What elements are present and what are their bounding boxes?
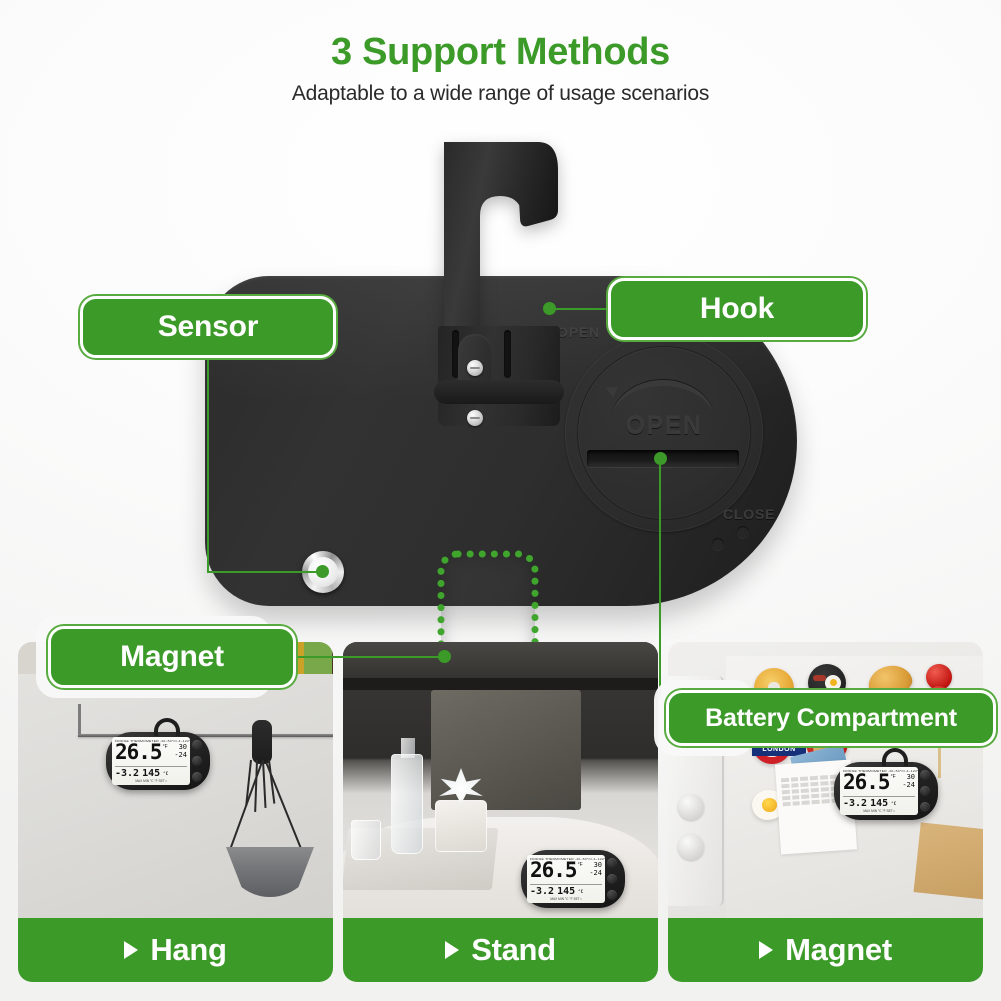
play-triangle-icon [759,941,773,959]
lcd-secondary-row: -3.2 145 °C [530,884,602,897]
button-mode[interactable] [607,874,617,884]
drinking-glass [351,820,381,860]
thermometer-device: FRIDGE THERMOMETER -20~50°C/-4~122°F 26.… [106,732,210,790]
leader-dot-sensor [316,565,329,578]
thermometer-hanging: FRIDGE THERMOMETER -20~50°C/-4~122°F 26.… [106,732,210,790]
lcd-footer-strip: MAX MIN °C °F SET • [530,897,602,901]
leader-dot-hook [543,302,556,315]
pan-egg [825,675,841,691]
button-set[interactable] [192,772,202,782]
play-triangle-icon [124,941,138,959]
lcd-unit-f: °F [578,862,583,868]
device-buttons[interactable] [918,767,932,815]
lcd-max-value: 30 [907,773,915,781]
lcd-secondary-value: 145 [557,886,575,897]
lcd-header-strip: FRIDGE THERMOMETER -20~50°C/-4~122°F [530,857,602,861]
scenario-label-hang[interactable]: Hang [18,918,333,982]
close-marker-text: CLOSE [723,506,775,522]
lcd-min-value: -24 [902,781,915,789]
scenario-label-magnet[interactable]: Magnet [668,918,983,982]
lcd-header-strip: FRIDGE THERMOMETER -20~50°C/-4~122°F [115,739,187,743]
callout-sensor[interactable]: Sensor [80,296,336,358]
lcd-main-row: 26.5 °F 30 -24 [115,743,187,766]
hanging-hook [432,138,572,428]
lcd-min-value: -24 [174,751,187,759]
cap-dot-close [737,526,749,538]
lcd-temperature: 26.5 [115,743,162,763]
product-diagram: OPEN OPEN CLOSE [0,128,1001,640]
lcd-secondary-unit: °C [163,771,168,776]
callout-magnet-label: Magnet [120,640,224,674]
screw-lower-icon [467,410,483,426]
thermometer-device: FRIDGE THERMOMETER -20~50°C/-4~122°F 26.… [521,850,625,908]
scenario-photo-stand: FRIDGE THERMOMETER -20~50°C/-4~122°F 26.… [343,642,658,918]
button-mode[interactable] [920,786,930,796]
lcd-secondary-row: -3.2 145 °C [843,796,915,809]
lcd-footer-strip: MAX MIN °C °F SET • [115,779,187,783]
lcd-screen: FRIDGE THERMOMETER -20~50°C/-4~122°F 26.… [527,855,605,903]
rail-bracket [78,704,81,736]
lcd-minmax: 30 -24 [589,861,602,877]
lcd-secondary-value: 145 [142,768,160,779]
lcd-temperature: 26.5 [530,861,577,881]
lcd-secondary-row: -3.2 145 °C [115,766,187,779]
lcd-minmax: 30 -24 [174,743,187,759]
button-set[interactable] [920,802,930,812]
callout-hook[interactable]: Hook [608,278,866,340]
lcd-timer-value: -3.2 [115,768,139,779]
cabinet-shelf-edge [343,678,658,690]
lcd-timer-value: -3.2 [843,798,867,809]
pan-bacon [813,675,826,680]
leader-line-sensor-horizontal [207,571,323,573]
lcd-main-row: 26.5 °F 30 -24 [530,861,602,884]
leader-line-magnet [292,656,448,658]
lcd-screen: FRIDGE THERMOMETER -20~50°C/-4~122°F 26.… [112,737,190,785]
lcd-min-value: -24 [589,869,602,877]
device-buttons[interactable] [605,855,619,903]
callout-magnet[interactable]: Magnet [48,626,296,688]
lcd-max-value: 30 [594,861,602,869]
scenario-label-magnet-text: Magnet [785,932,892,968]
callout-sensor-label: Sensor [158,310,259,344]
leader-line-battery [659,458,661,698]
page-subtitle: Adaptable to a wide range of usage scena… [0,79,1001,109]
lcd-secondary-unit: °C [578,889,583,894]
header: 3 Support Methods Adaptable to a wide ra… [0,28,1001,109]
lcd-unit-f: °F [891,774,896,780]
scenario-card-stand[interactable]: FRIDGE THERMOMETER -20~50°C/-4~122°F 26.… [343,642,658,982]
glass-bottle [391,754,423,854]
lcd-unit-f: °F [163,744,168,750]
screw-upper-icon [467,360,483,376]
button-power[interactable] [607,858,617,868]
hook-lower-tab [434,380,564,404]
callout-battery-compartment[interactable]: Battery Compartment [666,690,996,746]
callout-hook-label: Hook [700,292,774,326]
lcd-footer-strip: MAX MIN °C °F SET • [843,809,915,813]
infographic-stage: 3 Support Methods Adaptable to a wide ra… [0,0,1001,1001]
lcd-header-strip: FRIDGE THERMOMETER -20~50°C/-4~122°F [843,769,915,773]
battery-cap-open-text: OPEN [565,412,763,441]
callout-battery-label: Battery Compartment [705,704,957,733]
button-power[interactable] [920,770,930,780]
button-set[interactable] [607,890,617,900]
thermometer-magnet-mounted: FRIDGE THERMOMETER -20~50°C/-4~122°F 26.… [834,762,938,820]
lcd-screen: FRIDGE THERMOMETER -20~50°C/-4~122°F 26.… [840,767,918,815]
plant-hanger-knot [252,720,272,764]
decorative-jar [435,800,487,852]
page-title: 3 Support Methods [0,28,1001,76]
battery-compartment-cap[interactable]: OPEN [565,334,763,532]
lcd-secondary-value: 145 [870,798,888,809]
lcd-timer-value: -3.2 [530,886,554,897]
sticky-note [914,822,983,899]
cap-dot-mid [712,538,724,550]
leader-line-hook [548,308,610,310]
play-triangle-icon [445,941,459,959]
scenario-label-stand[interactable]: Stand [343,918,658,982]
device-buttons[interactable] [190,737,204,785]
appliance-dial-3 [678,834,704,860]
button-power[interactable] [192,740,202,750]
lcd-temperature: 26.5 [843,773,890,793]
cabinet-top [343,642,658,678]
scenario-label-stand-text: Stand [471,932,556,968]
leader-dot-magnet [438,650,451,663]
scenario-label-hang-text: Hang [150,932,226,968]
button-mode[interactable] [192,756,202,766]
leader-line-sensor-vertical [207,358,209,573]
lcd-main-row: 26.5 °F 30 -24 [843,773,915,796]
lcd-minmax: 30 -24 [902,773,915,789]
hook-slot-right [504,330,511,378]
thermometer-standing: FRIDGE THERMOMETER -20~50°C/-4~122°F 26.… [521,850,625,908]
lcd-secondary-unit: °C [891,801,896,806]
lcd-max-value: 30 [179,743,187,751]
appliance-dial-2 [678,794,704,820]
thermometer-device: FRIDGE THERMOMETER -20~50°C/-4~122°F 26.… [834,762,938,820]
leader-dot-battery [654,452,667,465]
